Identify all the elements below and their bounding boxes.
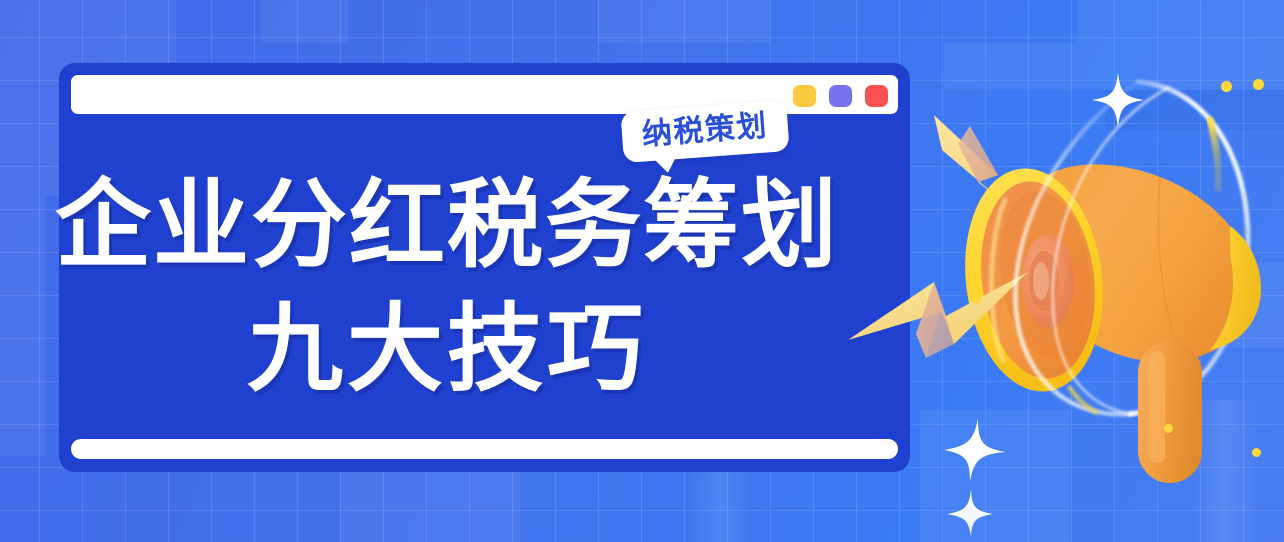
card-bottom-bar (71, 439, 898, 459)
megaphone-handle (1138, 341, 1202, 483)
megaphone-cone (953, 161, 1115, 400)
megaphone-body (1029, 164, 1261, 362)
sparkle-icon-1 (1092, 72, 1144, 128)
accent-dot-5 (1252, 448, 1261, 457)
accent-dot-1 (1221, 81, 1232, 92)
tag-tail-icon (654, 157, 677, 174)
ring-front (1015, 82, 1168, 414)
sparkle-icon-2 (944, 418, 1006, 482)
lightning-bolt-upper (934, 115, 1031, 224)
megaphone-hub (1022, 234, 1074, 328)
tag-label: 纳税策划 (641, 110, 769, 151)
background-sheen-2 (1190, 400, 1260, 542)
yellow-arc (1210, 120, 1219, 188)
ring-back (1130, 82, 1248, 414)
sparkle-icon-3 (947, 489, 993, 537)
window-dot-yellow-icon[interactable] (793, 85, 816, 107)
window-dot-purple-icon[interactable] (829, 85, 852, 107)
accent-dot-4 (1164, 424, 1173, 433)
ring-lower-yellow (1070, 388, 1096, 412)
window-controls[interactable] (793, 85, 888, 107)
banner-root: 纳税策划 企业分红税务筹划 九大技巧 (0, 0, 1284, 542)
accent-dot-2 (1253, 79, 1264, 90)
accent-dot-3 (973, 296, 981, 304)
window-dot-red-icon[interactable] (865, 85, 888, 107)
